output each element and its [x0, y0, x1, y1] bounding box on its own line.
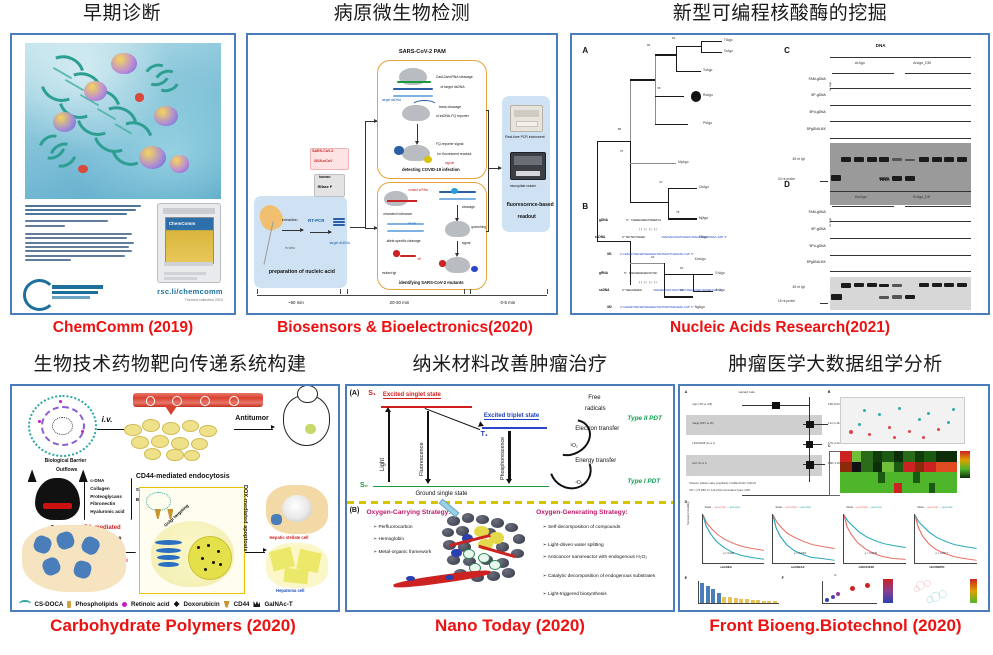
panel-caption-carbohydrate: Carbohydrate Polymers (2020) [8, 617, 338, 634]
branch-a-step3: FQ-reporter signal [436, 142, 464, 146]
doxorubicin-icon [174, 601, 180, 607]
electron-transfer-label: Electron transfer [575, 426, 619, 432]
timeline-seg-2: 20-30 min [390, 300, 410, 305]
heatmap [840, 451, 957, 494]
panel-caption-nanotoday: Nano Today (2020) [345, 617, 675, 634]
branch-a-step1b: of target dsDNA [441, 85, 465, 89]
subpanel-label-c3: C [828, 444, 831, 448]
connector-v1 [365, 121, 366, 228]
connector-h1 [350, 227, 365, 228]
gel-image-d [830, 277, 971, 310]
device-2-label: microplate reader [510, 184, 536, 188]
carrying-item-2: ➢ Metal-organic framework [373, 550, 431, 555]
poster-board: 早期诊断 [0, 0, 993, 655]
generating-item-2: ➢ Anticancer nanoreactor with endogenous… [543, 555, 648, 560]
subpanel-label-d: D [784, 180, 790, 189]
mutant-guide [387, 200, 418, 202]
subpanel-label-e3: E [685, 576, 687, 580]
survival-curve-4 [914, 514, 977, 564]
subpanel-label-a: A [582, 46, 588, 55]
barrier-item-4: Hyaluronic acid [90, 509, 124, 514]
panel-tumor-big-data: 肿瘤医学大数据组学分析 [678, 355, 993, 374]
branch-a-step2b: of ssDNA-FQ reporter [436, 114, 469, 118]
network-diagram [902, 579, 964, 606]
device-1-label: Real-time PCR instrument [505, 135, 544, 139]
timeline-seg-3: 0-5 min [501, 300, 516, 305]
nar-multipanel-figure: A [572, 35, 988, 313]
section-divider [347, 501, 673, 504]
mouse-model [283, 395, 331, 446]
generating-item-3: ➢ Catalytic decomposition of endogenous … [543, 574, 656, 579]
panel-early-diagnosis: 早期诊断 [8, 4, 236, 23]
extravasation-arrow [165, 406, 177, 415]
panel-frame-nanomaterial: (A) S₁ Excited singlet state Excited tri… [345, 384, 675, 612]
antitumor-arrow [234, 429, 273, 430]
branch-b-arrow [365, 228, 377, 229]
carrying-item-1: ➢ Hemoglobin [373, 537, 404, 542]
guide-rna-green [397, 81, 431, 83]
subpanel-label-c: C [784, 46, 790, 55]
legend-label-3: Doxorubicin [184, 601, 220, 608]
mutant-label: mutant crRNA [408, 188, 428, 192]
sars-tag-line2: 2019-nCoV [314, 159, 333, 163]
barrier-label-1: Biological Barrier [45, 458, 87, 464]
panel-frame-drug-delivery: i.v. [10, 384, 340, 612]
realtime-pcr-device [510, 105, 543, 132]
panel-title-pathogen-detection: 病原微生物检测 [246, 4, 558, 23]
crispr-workflow-diagram: preparation of nucleic acid extraction R… [248, 35, 556, 313]
panel-title-nanomaterial: 纳米材料改善肿瘤治疗 [345, 355, 675, 374]
fluorescence-arrow [427, 411, 429, 480]
dot-plot [822, 581, 877, 603]
bar-chart [698, 581, 778, 603]
subpanel-label-a2: (A) [350, 390, 360, 397]
barrier-label-2: Outflows [56, 467, 77, 473]
energy-transfer-arrow [542, 441, 599, 496]
branch-b-step2: allele-specific cleavage [387, 239, 421, 243]
fluorophore-dot [394, 146, 403, 154]
readout-label-1: fluorescence-based [507, 202, 554, 208]
panel-nanomaterial-therapy: 纳米材料改善肿瘤治疗 [345, 355, 675, 374]
forest-title: Hazard ratio [739, 390, 755, 394]
barrier-item-1: Collagen [90, 486, 109, 491]
subpanel-label-f3: F [782, 576, 784, 580]
golgi-apparatus [155, 540, 182, 576]
inset-journal-name: ChemComm [169, 221, 196, 226]
legend-label-5: GalNAc-T [264, 601, 292, 608]
cell-interior-box: Golgi targeting [139, 487, 245, 594]
nucleus [188, 536, 232, 580]
cover-brand: rsc.li/chemcomm Themed collection 2019 [147, 287, 222, 302]
collapsed-stellate-cell [22, 525, 126, 592]
barrier-item-0: c-DNA [90, 478, 104, 483]
readout-arrow [488, 168, 500, 169]
t1-text: Excited triplet state [484, 413, 539, 420]
heatmap-colorbar [960, 451, 969, 478]
extraction-arrow [282, 230, 304, 231]
dox-apoptosis-label: DOX-mediated apoptosis [242, 485, 248, 552]
generating-item-0: ➢ Self-decomposition of compounds [543, 525, 621, 530]
branch-a-step3c: signal [445, 161, 454, 165]
legend-label-0: CS-DOCA [35, 601, 64, 608]
phospholipid-icon [67, 601, 71, 608]
branch-a-step3b: for fluorescent readout [437, 152, 471, 156]
heatmap-dendrogram [829, 451, 839, 496]
s1-symbol: S₁ [368, 390, 376, 397]
cover-body-text [25, 205, 140, 264]
barrier-devil-icon [35, 478, 81, 521]
fluorescence-label: Fluorescence [419, 442, 425, 476]
type1-pdt-label: Type I PDT [627, 478, 660, 485]
branch-b-wt: wt tgt [408, 221, 415, 225]
legend-label-4: CD44 [234, 601, 250, 608]
free-radicals-label-1: Free [588, 395, 600, 401]
branch-a-step1: Cas12a/crRNA cleavage [436, 75, 473, 79]
endocytosis-label: CD44-mediated endocytosis [136, 473, 230, 480]
blood-vessel-curve [393, 565, 491, 596]
subpanel-label-b2: (B) [350, 507, 360, 514]
isc-arrow [425, 408, 480, 430]
sars-tag-line1: SARS-CoV-2 [312, 149, 333, 153]
energy-transfer-label: Energy transfer [575, 458, 616, 464]
branch-b-signal: signal [462, 241, 470, 245]
panel-title-drug-delivery: 生物技术药物靶向传递系统构建 [5, 355, 335, 374]
t1-symbol: T₁ [481, 431, 488, 438]
barrier-item-3: Fibronectin [90, 501, 115, 506]
carrying-item-0: ➢ Perfluorocarbon [373, 525, 413, 530]
scatter-plot [840, 397, 965, 444]
subpanel-label-a3: A [685, 390, 688, 394]
panel-title-programmable-nuclease: 新型可编程核酸酶的挖掘 [570, 4, 990, 23]
probe-dot [451, 188, 458, 194]
branch-a-target-label: target dsDNA [382, 98, 401, 102]
target-dsdna-label: target dsDNA [330, 241, 350, 245]
apoptotic-cell-top [266, 485, 328, 534]
s0-symbol: S₀ [360, 482, 368, 489]
readout-label-2: readout [518, 214, 536, 220]
connector-t1 [486, 110, 490, 111]
branch-b-caption: identifying SARS-CoV-2 mutants [399, 280, 464, 285]
panel-title-big-data: 肿瘤医学大数据组学分析 [678, 355, 993, 374]
right-cell-label-top: Hepatic stellate cell [270, 535, 309, 540]
galnact-icon [253, 601, 260, 607]
species-triplet-o2: ³O₂ [570, 443, 578, 449]
rtpcr-label: RT-PCR [308, 218, 324, 223]
subpanel-label-b: B [582, 202, 588, 211]
target-dsdna-icon [333, 218, 345, 235]
panel-caption-biosensors: Biosensors & Bioelectronics(2020) [240, 320, 570, 336]
jablonski-strategies-figure: (A) S₁ Excited singlet state Excited tri… [347, 386, 673, 610]
brace-right [129, 478, 132, 521]
generating-item-4: ➢ Light-triggered biosynthesis [543, 592, 607, 597]
sample-prep-label: preparation of nucleic acid [262, 269, 342, 275]
signal-dot-blue [471, 266, 478, 272]
cover-inset-thumbnail: ChemComm [157, 203, 221, 283]
timeline-seg-1: ~60 min [288, 300, 304, 305]
extraction-label: extraction [282, 218, 298, 222]
connector-t2 [486, 231, 490, 232]
dna-helix-illustration [25, 43, 220, 199]
iv-route-label: i.v. [102, 415, 113, 424]
panel-programmable-nuclease: 新型可编程核酸酶的挖掘 [570, 4, 990, 23]
connector-v2 [488, 110, 489, 232]
branch-b-cleavage: cleavage [462, 205, 475, 209]
time-label-left: in vitro [285, 246, 295, 250]
light-label: Light [380, 458, 386, 471]
quencher-dot [424, 156, 432, 163]
cas-complex-mutant-3 [445, 257, 470, 272]
gel-image-c [830, 143, 971, 204]
panel-title-early-diagnosis: 早期诊断 [8, 4, 236, 23]
branch-b-mut: mutant tgt [382, 271, 396, 275]
human-tag-line2: RNase P [318, 185, 333, 189]
phosphorescence-arrow [508, 431, 510, 480]
rsc-logo [23, 277, 103, 308]
survival-curve-3 [843, 514, 906, 564]
branch-b-down-arrow [457, 205, 458, 219]
branch-a-down-arrow [417, 124, 418, 141]
right-cell-label-bottom: Hepatoma cell [276, 588, 304, 593]
tree-highlight-node [691, 91, 702, 102]
survival-ylabel: Survival probability [686, 501, 690, 524]
scheme-legend: CS-DOCA Phospholipids Retinoic acid Doxo… [19, 600, 332, 608]
species-singlet-o2: ¹O₂ [575, 480, 583, 486]
dox-arrow [245, 552, 265, 553]
panel-frame-programmable-nuclease: A [570, 33, 990, 315]
generating-item-1: ➢ Light-driven water splitting [543, 543, 604, 548]
bioinformatics-figure: A Hazard ratio Age (>65 vs ≤65) Stage (I… [680, 386, 988, 610]
cas-complex-mutant-2 [445, 221, 470, 236]
tumor-microenvironment [120, 415, 231, 462]
panel-frame-big-data: A Hazard ratio Age (>65 vs ≤65) Stage (I… [678, 384, 990, 612]
s1-text: Excited singlet state [383, 392, 441, 399]
branch-b-step1: mismatch tolerance [384, 212, 413, 216]
journal-cover-artwork: ChemComm rsc.li/chemcomm Themed collecti… [12, 35, 234, 313]
panel-caption-nar: Nucleic Acids Research(2021) [600, 320, 960, 336]
panel-caption-frontiers: Front Bioeng.Biotechnol (2020) [678, 617, 993, 634]
survival-curve-1 [702, 514, 765, 564]
branch-a-step2: trans-cleavage [439, 105, 461, 109]
ground-state-line [373, 486, 549, 488]
human-tag-line1: human [319, 175, 331, 179]
brace-left [84, 478, 87, 521]
survival-curve-2 [772, 514, 835, 564]
blood-vessel [133, 393, 263, 408]
branch-b-nosignal: off [417, 257, 421, 261]
csdoca-icon [19, 600, 31, 608]
legend-label-2: Retinoic acid [131, 601, 170, 608]
oxygen-generating-title: Oxygen-Generating Strategy: [536, 509, 628, 516]
branch-a-caption: detecting COVID-19 infection [402, 167, 460, 172]
panel-pathogen-detection: 病原微生物检测 [246, 4, 558, 23]
panel-frame-early-diagnosis: ChemComm rsc.li/chemcomm Themed collecti… [10, 33, 236, 315]
network-colorbar [970, 579, 978, 604]
branch-b-quenching: quenching [471, 225, 486, 229]
branch-title: SARS-CoV-2 PAM [399, 49, 446, 55]
oxygen-carrying-title: Oxygen-Carrying Strategy: [367, 509, 451, 516]
csdoca-mechanism-scheme: i.v. [12, 386, 338, 610]
barrier-item-2: Proteoglycans [90, 494, 122, 499]
cas-complex-mutant-1 [384, 191, 409, 206]
retinoic-acid-icon [122, 602, 127, 607]
panel-biotech-drug-delivery: 生物技术药物靶向传递系统构建 [5, 355, 335, 374]
panel-frame-pathogen-detection: preparation of nucleic acid extraction R… [246, 33, 558, 315]
apoptotic-cell-bottom [266, 543, 328, 588]
free-radicals-label-2: radicals [585, 406, 606, 412]
timeline-axis [257, 295, 547, 296]
liposome-nanoparticle [28, 395, 97, 457]
subpanel-label-b3: B [828, 390, 831, 394]
dotplot-colorbar [883, 579, 892, 604]
rtpcr-arrow [310, 232, 332, 233]
light-absorption-arrow [388, 411, 390, 483]
cd44-icon [224, 601, 230, 608]
microplate-reader-device [510, 152, 546, 180]
branch-a-arrow [365, 121, 377, 122]
branch-b-down-arrow2 [457, 241, 458, 254]
legend-label-1: Phospholipids [75, 601, 118, 608]
s0-text: Ground single state [415, 491, 467, 497]
panel-caption-chemcomm: ChemComm (2019) [10, 320, 236, 336]
type2-pdt-label: Type II PDT [627, 415, 662, 422]
antitumor-label: Antitumor [235, 415, 268, 422]
phosphorescence-label: Phosphorescence [500, 437, 506, 480]
